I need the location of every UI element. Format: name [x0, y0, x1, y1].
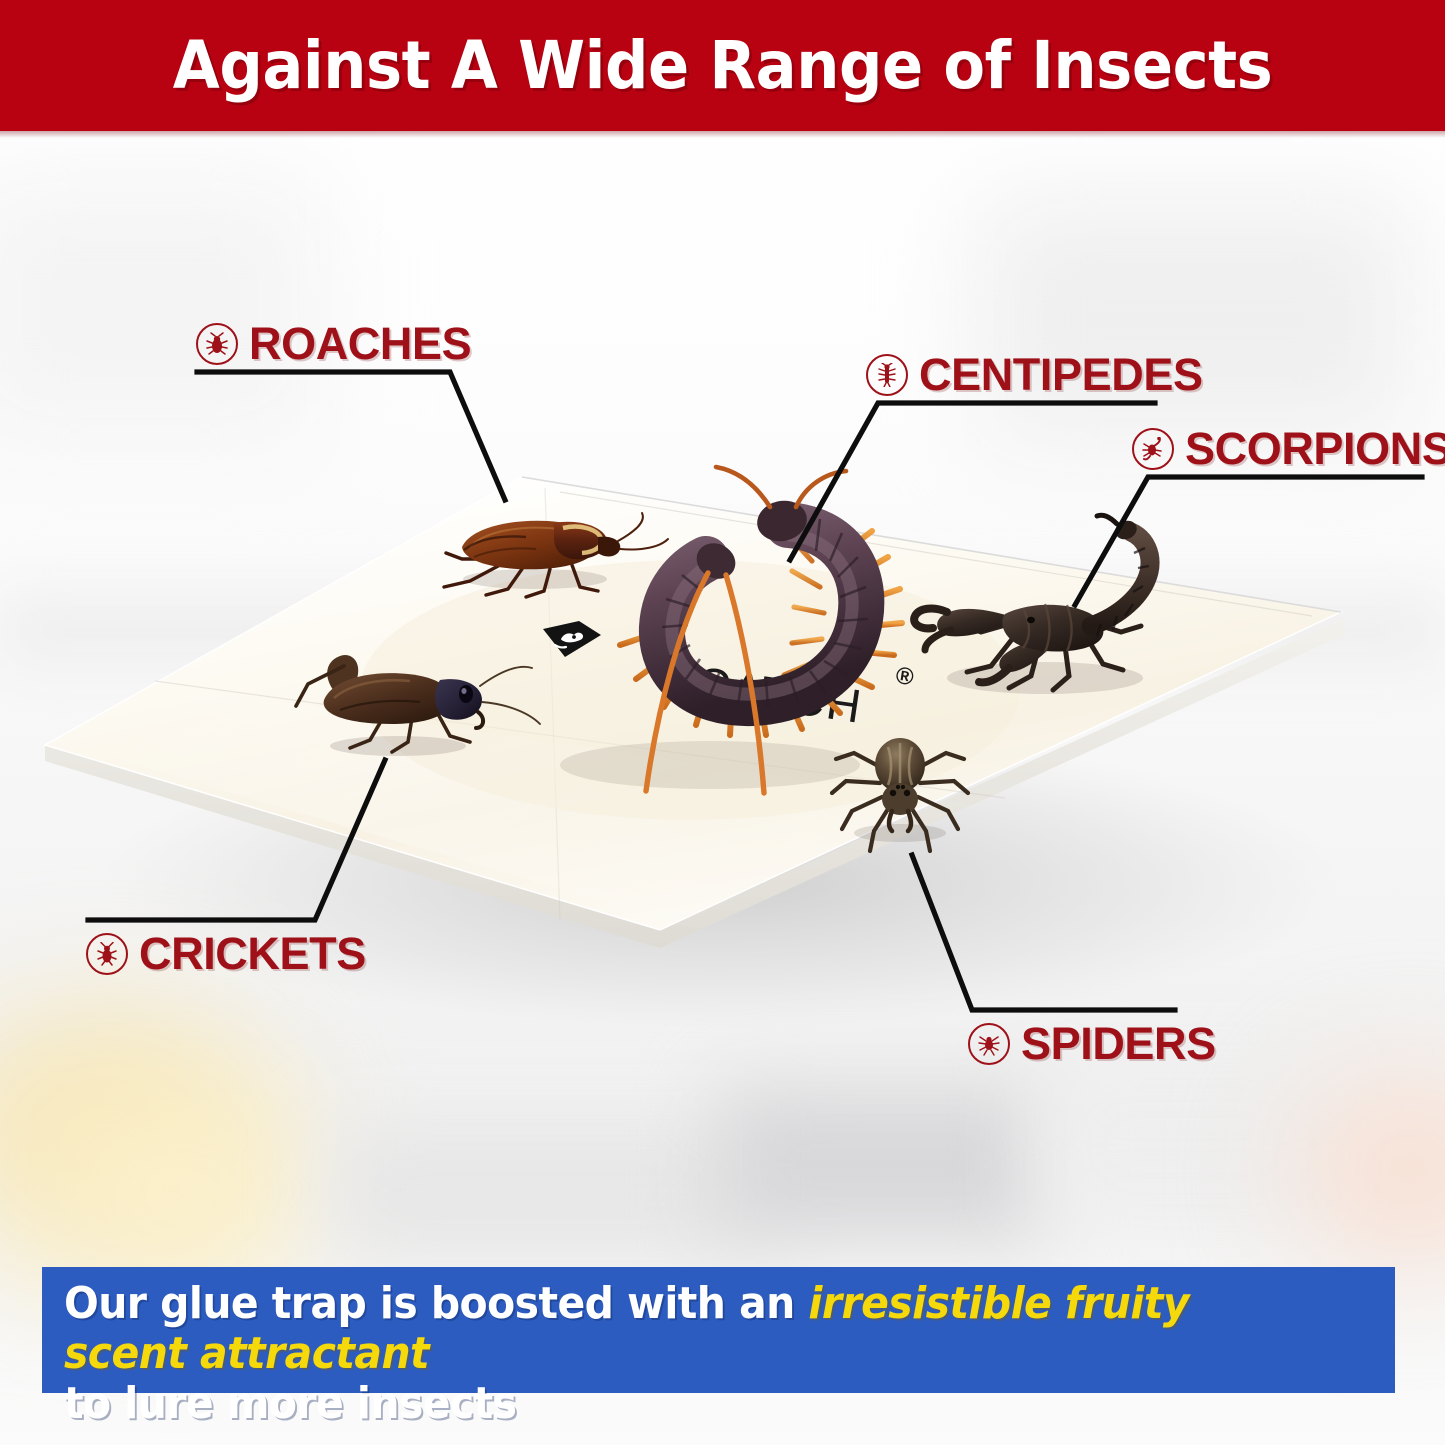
top-banner-shadow — [0, 131, 1445, 138]
top-banner: Against A Wide Range of Insects — [0, 0, 1445, 131]
centipede-icon — [866, 354, 908, 396]
callout-spiders[interactable]: SPIDERS — [968, 1018, 1216, 1070]
pest-scorpion — [905, 520, 1175, 720]
bottom-banner-line-2: to lure more insects — [64, 1379, 1289, 1429]
page-title: Against A Wide Range of Insects — [173, 27, 1273, 104]
bottom-banner-line-1: Our glue trap is boosted with an irresis… — [64, 1279, 1289, 1379]
callout-scorpions-label: SCORPIONS — [1185, 423, 1445, 475]
cricket-icon — [86, 933, 128, 975]
pest-spider — [830, 725, 970, 860]
pest-cricket — [288, 640, 503, 770]
callout-crickets[interactable]: CRICKETS — [86, 928, 366, 980]
callout-spiders-label: SPIDERS — [1021, 1018, 1216, 1070]
bottom-banner: Our glue trap is boosted with an irresis… — [42, 1267, 1395, 1393]
callout-scorpions[interactable]: SCORPIONS — [1132, 423, 1445, 475]
spider-icon — [968, 1023, 1010, 1065]
product-infographic: Against A Wide Range of Insects — [0, 0, 1445, 1445]
callout-roaches-label: ROACHES — [249, 318, 471, 370]
callout-centipedes[interactable]: CENTIPEDES — [866, 349, 1203, 401]
scorpion-icon — [1132, 428, 1174, 470]
callout-crickets-label: CRICKETS — [139, 928, 366, 980]
callout-centipedes-label: CENTIPEDES — [919, 349, 1203, 401]
bottom-banner-line-1-plain: Our glue trap is boosted with an — [64, 1278, 808, 1329]
callout-roaches[interactable]: ROACHES — [196, 318, 471, 370]
cockroach-icon — [196, 323, 238, 365]
